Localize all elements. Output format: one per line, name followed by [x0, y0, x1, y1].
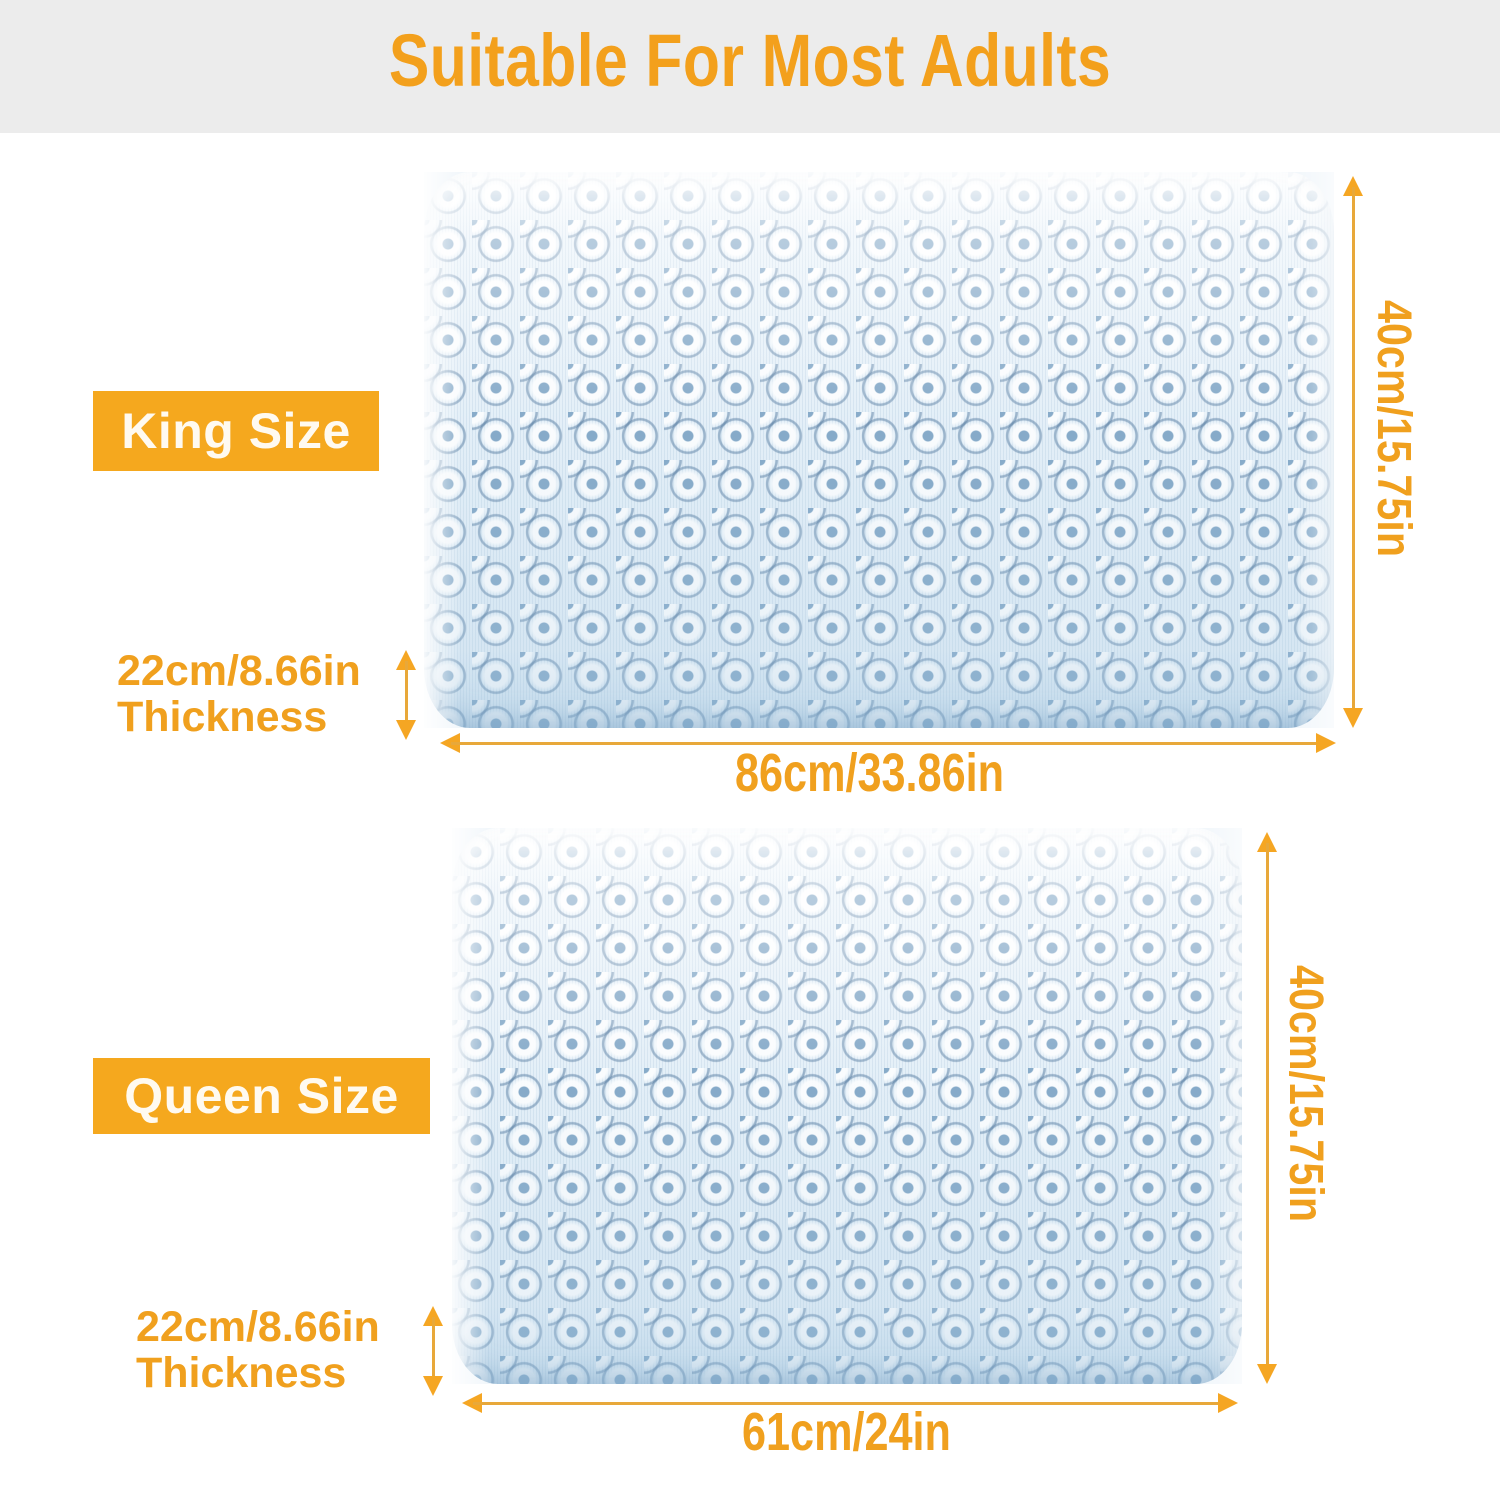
arrow-shaft: [1352, 187, 1355, 717]
queen-height-arrow-icon: [1256, 832, 1278, 1384]
king-thickness-word: Thickness: [117, 694, 361, 740]
king-height-label: 40cm/15.75in: [1368, 300, 1418, 557]
king-height-arrow-icon: [1342, 176, 1364, 728]
king-thickness-value: 22cm/8.66in: [117, 648, 361, 694]
king-size-badge-label: King Size: [121, 402, 351, 460]
queen-size-badge: Queen Size: [93, 1058, 430, 1134]
arrow-shaft: [405, 661, 408, 729]
arrow-shaft: [1266, 843, 1269, 1373]
arrow-head-right-icon: [1218, 1393, 1238, 1413]
arrow-head-down-icon: [1343, 708, 1363, 728]
arrow-head-down-icon: [423, 1376, 443, 1396]
queen-width-label: 61cm/24in: [742, 1404, 951, 1461]
queen-thickness-label: 22cm/8.66in Thickness: [136, 1304, 380, 1397]
queen-size-badge-label: Queen Size: [124, 1067, 399, 1125]
queen-pillow-fabric: [452, 828, 1242, 1384]
king-size-badge: King Size: [93, 391, 379, 471]
king-thickness-label: 22cm/8.66in Thickness: [117, 648, 361, 741]
queen-thickness-value: 22cm/8.66in: [136, 1304, 380, 1350]
king-pillow-image: [424, 172, 1334, 728]
arrow-head-down-icon: [1257, 1364, 1277, 1384]
queen-thickness-arrow-icon: [422, 1306, 444, 1396]
king-thickness-arrow-icon: [395, 650, 417, 740]
queen-height-label: 40cm/15.75in: [1280, 965, 1330, 1222]
king-width-label: 86cm/33.86in: [735, 745, 1004, 802]
queen-pillow-image: [452, 828, 1242, 1384]
arrow-head-right-icon: [1316, 733, 1336, 753]
page-title: Suitable For Most Adults: [135, 24, 1365, 98]
arrow-shaft: [432, 1317, 435, 1385]
king-pillow-fabric: [424, 172, 1334, 728]
arrow-head-down-icon: [396, 720, 416, 740]
queen-thickness-word: Thickness: [136, 1350, 380, 1396]
